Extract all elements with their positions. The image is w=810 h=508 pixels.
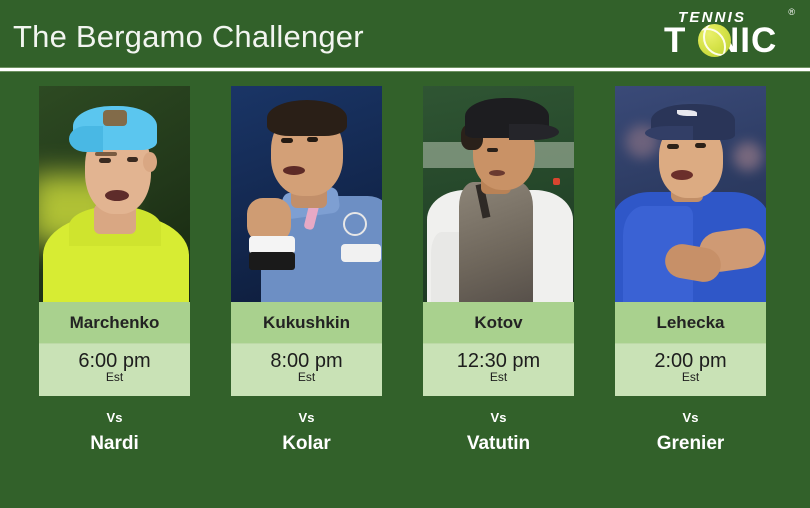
player-name: Marchenko — [70, 313, 160, 332]
match-card[interactable]: Marchenko 6:00 pm Est Vs Nardi — [39, 86, 190, 455]
match-time-band: 2:00 pm Est — [615, 344, 766, 396]
vs-label: Vs — [231, 410, 382, 426]
player-name: Kotov — [474, 313, 522, 332]
logo-tonic-t: T — [664, 21, 686, 60]
match-time-band: 12:30 pm Est — [423, 344, 574, 396]
header-bar: The Bergamo Challenger TENNIS ® TONIC — [0, 0, 810, 69]
player-name: Lehecka — [656, 313, 724, 332]
tournament-schedule-graphic: The Bergamo Challenger TENNIS ® TONIC — [0, 0, 810, 508]
opponent-name: Grenier — [615, 433, 766, 455]
player-name-band: Kotov — [423, 302, 574, 344]
opponent-name: Nardi — [39, 433, 190, 455]
registered-trademark-icon: ® — [788, 8, 795, 17]
vs-label: Vs — [615, 410, 766, 426]
vs-label: Vs — [423, 410, 574, 426]
player-name-band: Kukushkin — [231, 302, 382, 344]
tennis-ball-icon — [698, 24, 731, 57]
match-time-band: 6:00 pm Est — [39, 344, 190, 396]
match-timezone: Est — [423, 370, 574, 384]
match-card[interactable]: Kukushkin 8:00 pm Est Vs Kolar — [231, 86, 382, 455]
match-time-band: 8:00 pm Est — [231, 344, 382, 396]
player-name-band: Marchenko — [39, 302, 190, 344]
player-name: Kukushkin — [263, 313, 350, 332]
page-title: The Bergamo Challenger — [13, 18, 364, 56]
match-card[interactable]: Lehecka 2:00 pm Est Vs Grenier — [615, 86, 766, 455]
vs-label: Vs — [39, 410, 190, 426]
match-card[interactable]: Kotov 12:30 pm Est Vs Vatutin — [423, 86, 574, 455]
opponent-name: Vatutin — [423, 433, 574, 455]
match-timezone: Est — [615, 370, 766, 384]
player-photo — [231, 86, 382, 302]
match-card-list: Marchenko 6:00 pm Est Vs Nardi — [0, 86, 810, 486]
tennis-tonic-logo: TENNIS ® TONIC — [646, 8, 796, 60]
player-photo — [39, 86, 190, 302]
opponent-name: Kolar — [231, 433, 382, 455]
player-photo — [423, 86, 574, 302]
player-photo — [615, 86, 766, 302]
header-divider — [0, 67, 810, 72]
match-timezone: Est — [231, 370, 382, 384]
match-timezone: Est — [39, 370, 190, 384]
player-name-band: Lehecka — [615, 302, 766, 344]
